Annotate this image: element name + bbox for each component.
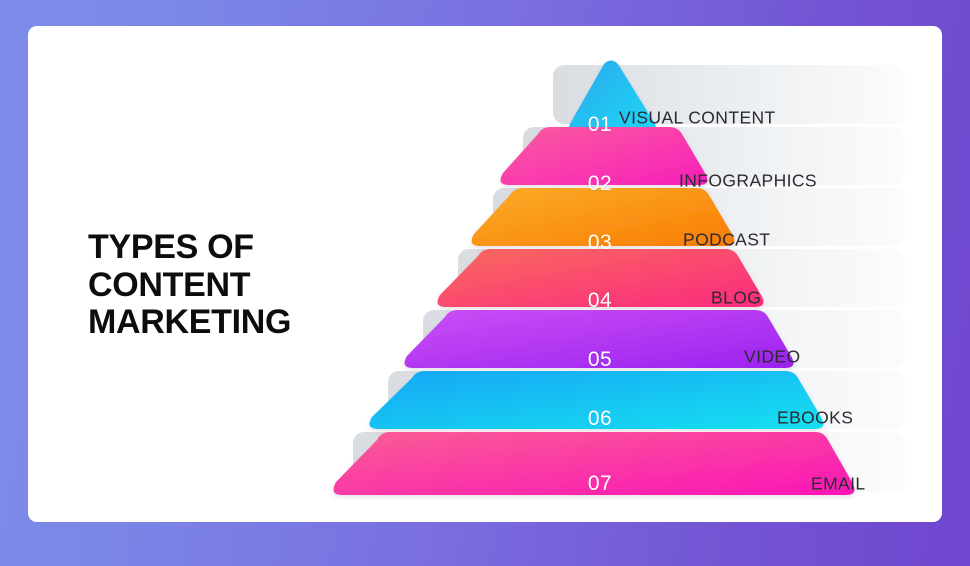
tier-label-ebooks: EBOOKS <box>777 408 853 429</box>
tier-number-4: 04 <box>588 289 612 313</box>
tier-label-podcast: PODCAST <box>683 230 770 251</box>
tier-number-5: 05 <box>588 348 612 372</box>
tier-label-infographics: INFOGRAPHICS <box>679 171 817 192</box>
tier-label-blog: BLOG <box>711 288 761 309</box>
tier-number-1: 01 <box>588 113 612 137</box>
tier-label-visual-content: VISUAL CONTENT <box>619 108 776 129</box>
tier-number-3: 03 <box>588 231 612 255</box>
poster-card: TYPES OF CONTENT MARKETING <box>28 26 942 522</box>
tier-label-video: VIDEO <box>744 347 800 368</box>
tier-number-6: 06 <box>588 407 612 431</box>
tier-label-email: EMAIL <box>811 474 866 495</box>
tier-number-2: 02 <box>588 172 612 196</box>
tier-number-7: 07 <box>588 472 612 496</box>
pyramid-chart <box>28 26 942 522</box>
poster-background: TYPES OF CONTENT MARKETING <box>0 0 970 566</box>
